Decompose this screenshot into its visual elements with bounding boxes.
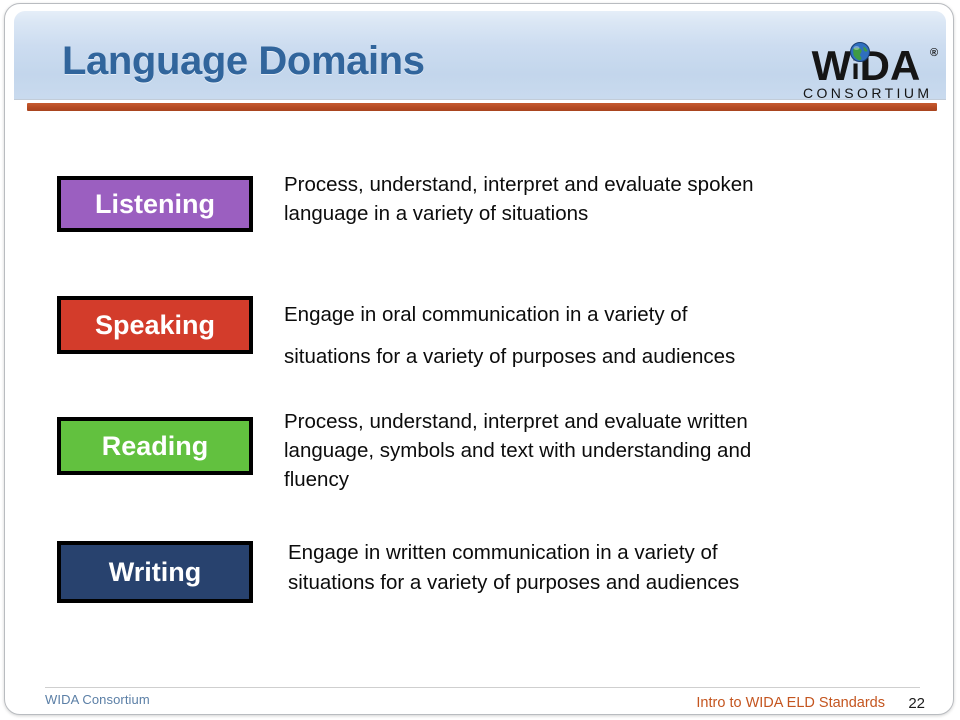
- domain-description-reading: Process, understand, interpret and evalu…: [284, 407, 914, 494]
- description-line: Engage in written communication in a var…: [288, 538, 918, 568]
- domain-chip-label: Writing: [109, 559, 201, 586]
- domain-chip-reading[interactable]: Reading: [57, 417, 253, 475]
- domain-description-listening: Process, understand, interpret and evalu…: [284, 170, 914, 228]
- footer-page-number: 22: [908, 695, 925, 712]
- domain-description-writing: Engage in written communication in a var…: [288, 538, 918, 598]
- domain-chip-label: Reading: [102, 433, 209, 460]
- description-line: situations for a variety of purposes and…: [284, 336, 914, 378]
- description-line: Process, understand, interpret and evalu…: [284, 170, 914, 199]
- slide-frame: Language Domains WiDA ® CONSORTIUM Liste…: [4, 3, 954, 715]
- description-line: language, symbols and text with understa…: [284, 436, 914, 465]
- description-line: Engage in oral communication in a variet…: [284, 294, 914, 336]
- domain-chip-speaking[interactable]: Speaking: [57, 296, 253, 354]
- description-line: language in a variety of situations: [284, 199, 914, 228]
- domain-chip-label: Listening: [95, 191, 215, 218]
- domain-chip-writing[interactable]: Writing: [57, 541, 253, 603]
- domain-chip-listening[interactable]: Listening: [57, 176, 253, 232]
- footer-organization: WIDA Consortium: [45, 692, 150, 707]
- domain-description-speaking: Engage in oral communication in a variet…: [284, 294, 914, 378]
- domain-list: Listening Process, understand, interpret…: [5, 4, 953, 714]
- description-line: Process, understand, interpret and evalu…: [284, 407, 914, 436]
- footer-divider: [45, 687, 920, 688]
- footer-deck-title: Intro to WIDA ELD Standards: [696, 695, 885, 711]
- description-line: situations for a variety of purposes and…: [288, 568, 918, 598]
- domain-chip-label: Speaking: [95, 312, 215, 339]
- description-line: fluency: [284, 465, 914, 494]
